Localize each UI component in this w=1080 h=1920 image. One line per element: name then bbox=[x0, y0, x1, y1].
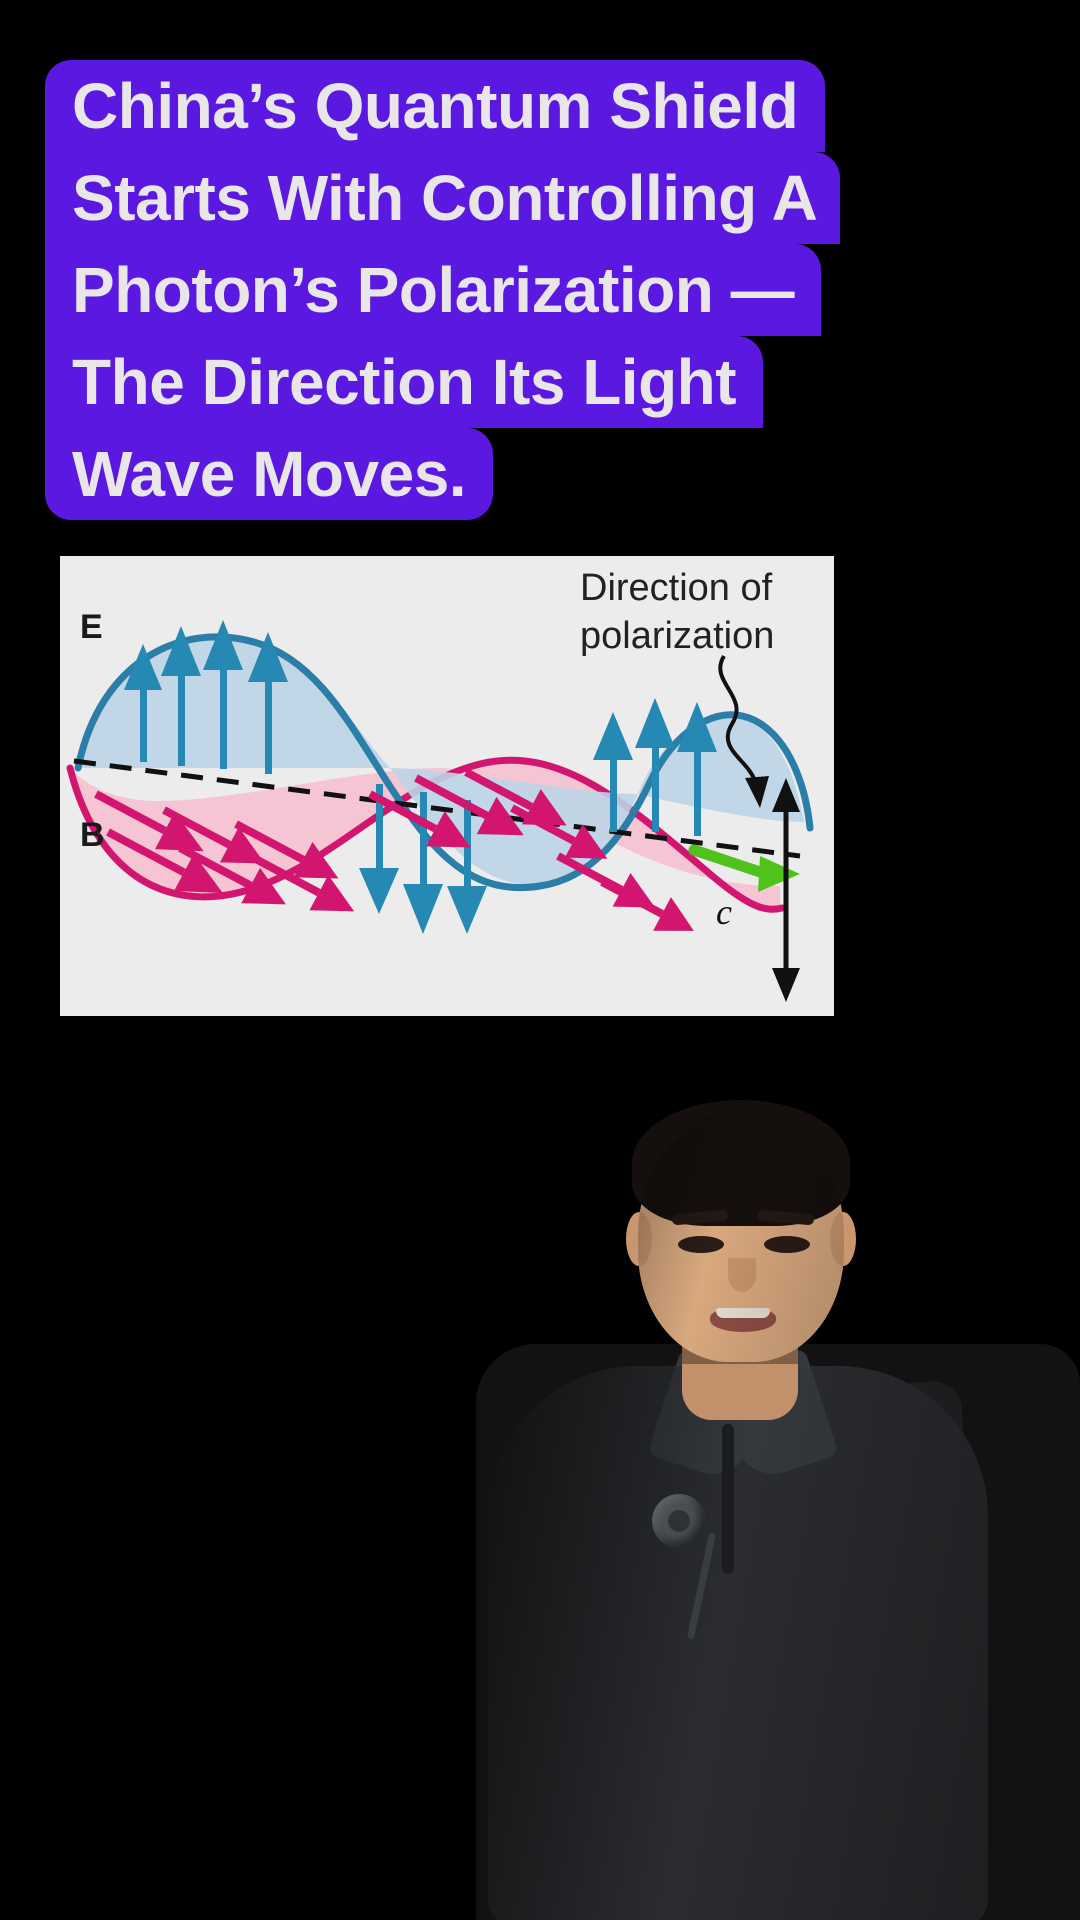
label-b-field: B bbox=[80, 816, 105, 854]
label-direction-line2: polarization bbox=[580, 615, 774, 657]
double-arrow-head-down bbox=[772, 968, 800, 1002]
caption-line-5: Wave Moves. bbox=[45, 428, 493, 520]
caption-line-2: Starts With Controlling A bbox=[45, 152, 840, 244]
label-direction-line1: Direction of bbox=[580, 567, 773, 609]
microphone-capsule bbox=[668, 1510, 690, 1532]
presenter-video-area bbox=[0, 1016, 1080, 1920]
face-shading bbox=[638, 1110, 844, 1362]
caption-block: China’s Quantum Shield Starts With Contr… bbox=[45, 60, 840, 520]
presenter-figure bbox=[476, 1094, 1080, 1920]
caption-line-3: Photon’s Polarization — bbox=[45, 244, 821, 336]
diagram-svg: E B Direction of polarization c bbox=[60, 556, 834, 1016]
caption-line-1: China’s Quantum Shield bbox=[45, 60, 825, 152]
label-speed-of-light: c bbox=[716, 892, 732, 932]
electromagnetic-wave-diagram: E B Direction of polarization c bbox=[60, 556, 834, 1016]
caption-line-4: The Direction Its Light bbox=[45, 336, 763, 428]
torso-shading bbox=[488, 1366, 988, 1920]
label-e-field: E bbox=[80, 608, 103, 646]
